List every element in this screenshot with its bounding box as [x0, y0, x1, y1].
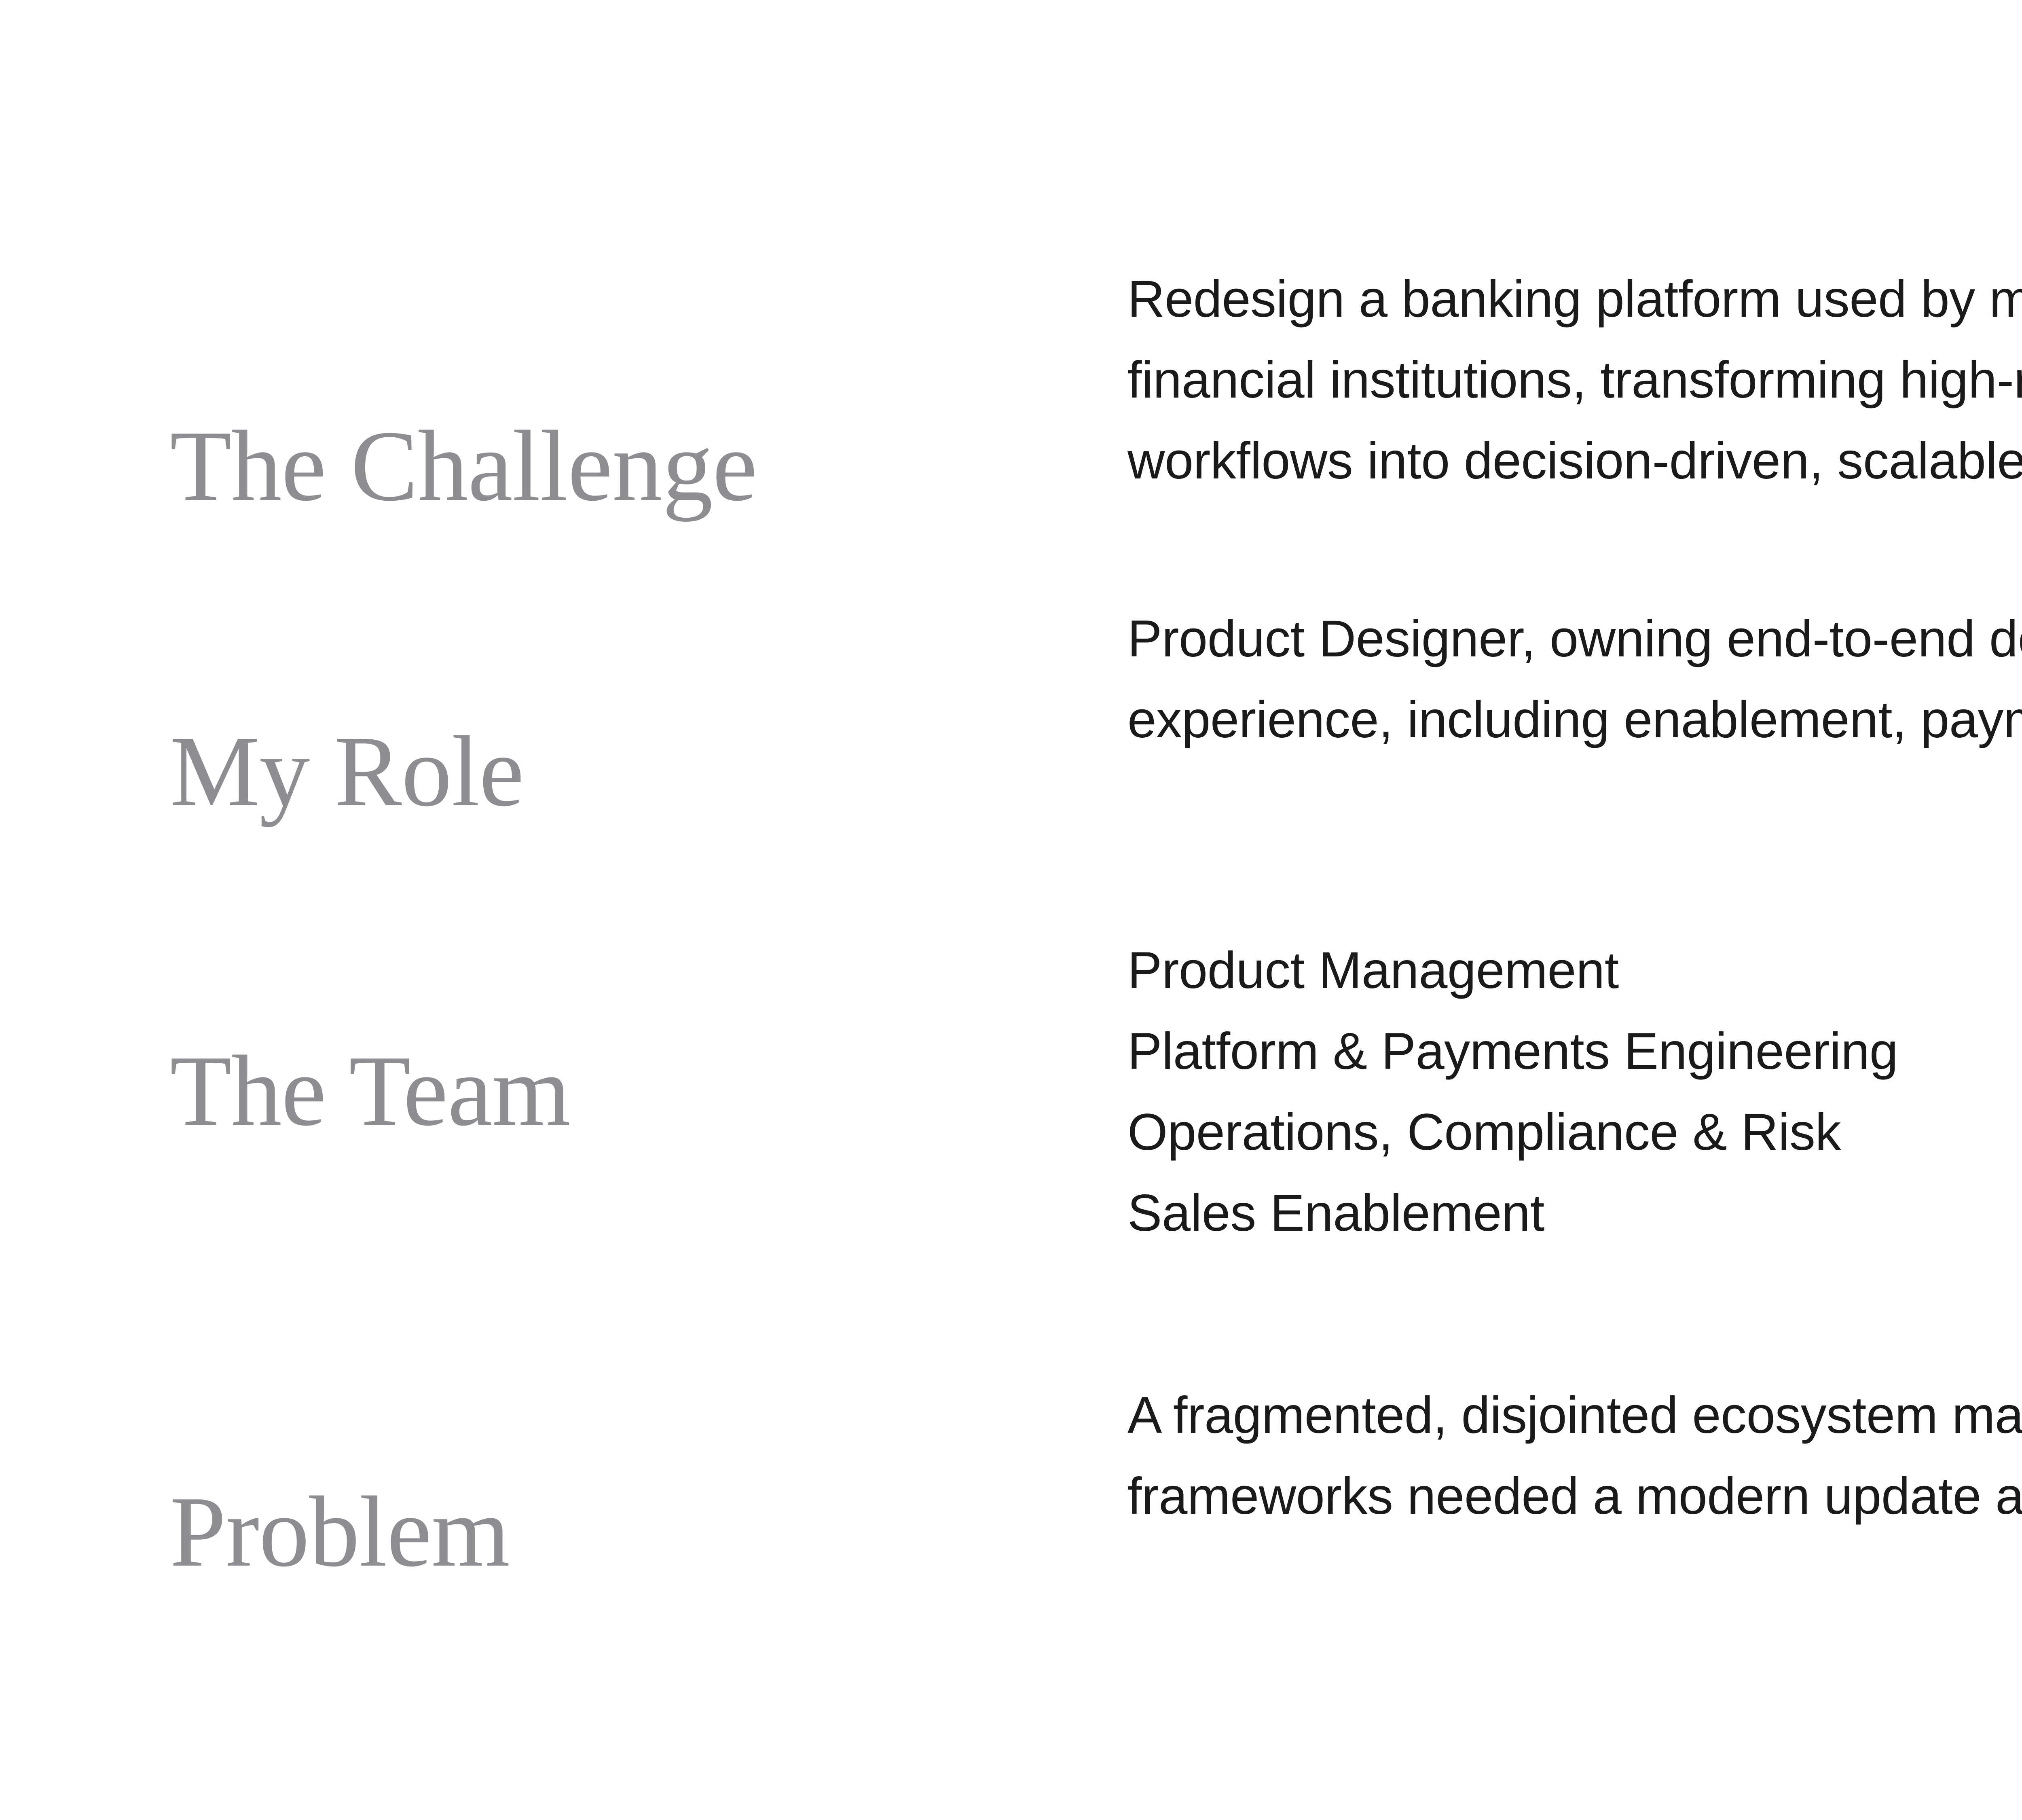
paragraph-line: Product Designer, owning end-to-end desi…	[1127, 599, 2022, 679]
paragraph-line: workflows into decision-driven, scalable…	[1127, 421, 2022, 502]
list-item: Platform & Payments Engineering	[1127, 1011, 2022, 1092]
section-heading-the-challenge: The Challenge	[170, 416, 1100, 517]
section-body-the-team: Product Management Platform & Payments E…	[1127, 930, 2022, 1254]
team-list: Product Management Platform & Payments E…	[1127, 930, 2022, 1254]
list-item: Operations, Compliance & Risk	[1127, 1092, 2022, 1173]
section-body-my-role: Product Designer, owning end-to-end desi…	[1127, 599, 2022, 760]
paragraph-line: frameworks needed a modern update and sc…	[1127, 1456, 2022, 1537]
paragraph-line: Redesign a banking platform used by mill…	[1127, 259, 2022, 340]
section-heading-problem: Problem	[170, 1481, 1100, 1583]
list-item: Product Management	[1127, 930, 2022, 1011]
paragraph-line: experience, including enablement, paymen…	[1127, 679, 2022, 760]
section-body-problem: A fragmented, disjointed ecosystem made …	[1127, 1375, 2022, 1537]
paragraph-line: A fragmented, disjointed ecosystem made …	[1127, 1375, 2022, 1456]
paragraph-line: financial institutions, transforming hig…	[1127, 340, 2022, 421]
section-heading-the-team: The Team	[170, 1041, 1100, 1142]
section-body-the-challenge: Redesign a banking platform used by mill…	[1127, 259, 2022, 502]
case-study-overview-page: The Challenge Redesign a banking platfor…	[0, 0, 2022, 1820]
list-item: Sales Enablement	[1127, 1173, 2022, 1254]
section-heading-my-role: My Role	[170, 721, 1100, 822]
